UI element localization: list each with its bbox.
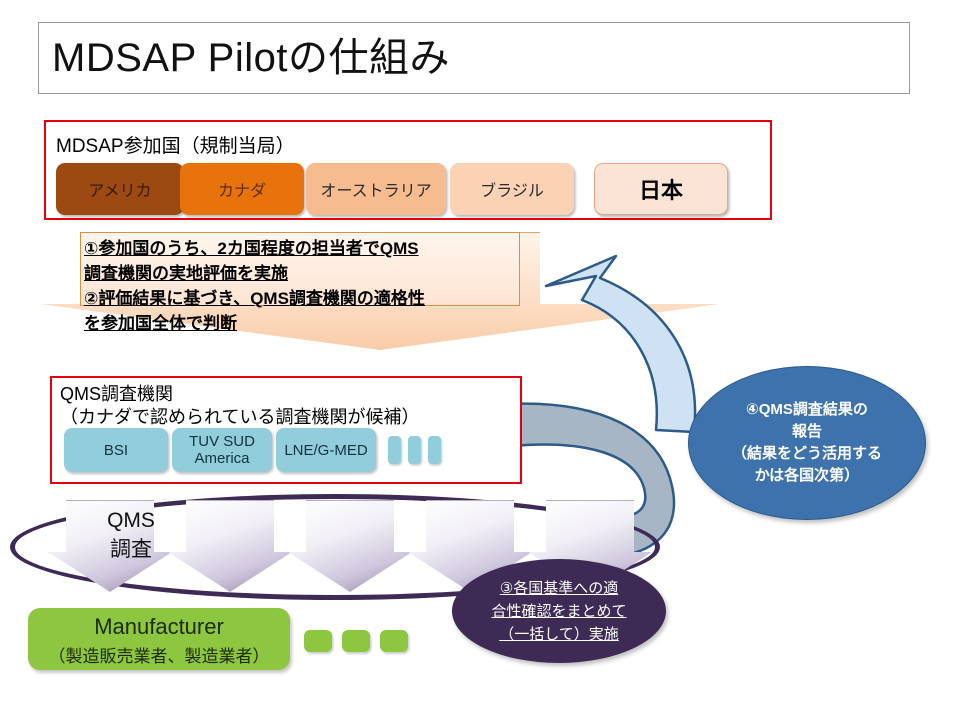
country-chip-australia[interactable]: オーストラリア: [306, 163, 446, 215]
participating-countries-label: MDSAP参加国（規制当局）: [56, 131, 295, 158]
report-feedback-curved-arrow: [546, 256, 695, 432]
qms-result-report-text: ④QMS調査結果の 報告 （結果をどう活用する かは各国次第）: [722, 399, 892, 487]
report-line-1: ④QMS調査結果の: [746, 401, 868, 418]
callout-line-2: 調査機関の実地評価を実施: [84, 264, 288, 283]
unified-line-1: ③各国基準への適: [500, 580, 618, 597]
callout-line-3: ②評価結果に基づき、QMS調査機関の適格性: [84, 289, 425, 308]
qms-audit-label: QMS 調査: [76, 506, 186, 564]
manufacturer-placeholder-chip: [380, 630, 408, 652]
auditor-placeholder-chip: [388, 436, 401, 464]
auditor-chip-bsi[interactable]: BSI: [64, 428, 168, 472]
qms-audit-label-line-1: QMS: [107, 509, 155, 532]
unified-line-3: （一括して）実施: [499, 626, 619, 643]
country-chip-brazil[interactable]: ブラジル: [450, 163, 574, 215]
report-line-4: かは各国次第）: [755, 467, 859, 484]
unified-line-2: 合性確認をまとめて: [491, 603, 626, 620]
unified-conformity-ellipse[interactable]: ③各国基準への適 合性確認をまとめて （一括して）実施: [452, 559, 666, 663]
callout-line-1: ①参加国のうち、2カ国程度の担当者でQMS: [84, 239, 419, 258]
auditor-chip-lne-g-med[interactable]: LNE/G-MED: [276, 428, 376, 472]
report-line-3: （結果をどう活用する: [732, 445, 882, 462]
assessment-callout-text: ①参加国のうち、2カ国程度の担当者でQMS 調査機関の実地評価を実施 ②評価結果…: [84, 236, 520, 336]
page-title: MDSAP Pilotの仕組み: [52, 30, 450, 86]
qms-audit-label-line-2: 調査: [110, 538, 152, 561]
auditor-chip-tuv-sud-america[interactable]: TUV SUD America: [172, 428, 272, 472]
manufacturer-placeholder-chip: [304, 630, 332, 652]
country-chip-usa[interactable]: アメリカ: [56, 163, 184, 215]
auditor-placeholder-chip: [408, 436, 421, 464]
report-line-2: 報告: [792, 423, 822, 440]
country-chip-canada[interactable]: カナダ: [180, 163, 304, 215]
slide-canvas: MDSAP Pilotの仕組み MDSAP参加国（規制当局） アメリカ カナダ …: [0, 0, 960, 720]
manufacturer-subtitle: （製造販売業者、製造業者）: [28, 642, 290, 667]
qms-result-report-ellipse[interactable]: ④QMS調査結果の 報告 （結果をどう活用する かは各国次第）: [688, 366, 926, 520]
manufacturer-placeholder-chip: [342, 630, 370, 652]
manufacturer-name: Manufacturer: [28, 614, 290, 640]
callout-line-4: を参加国全体で判断: [84, 314, 237, 333]
country-chip-japan[interactable]: 日本: [594, 163, 728, 215]
auditor-placeholder-chip: [428, 436, 441, 464]
unified-conformity-text: ③各国基準への適 合性確認をまとめて （一括して）実施: [485, 577, 632, 646]
qms-auditing-organization-subtitle: （カナダで認められている調査機関が候補）: [60, 403, 419, 429]
